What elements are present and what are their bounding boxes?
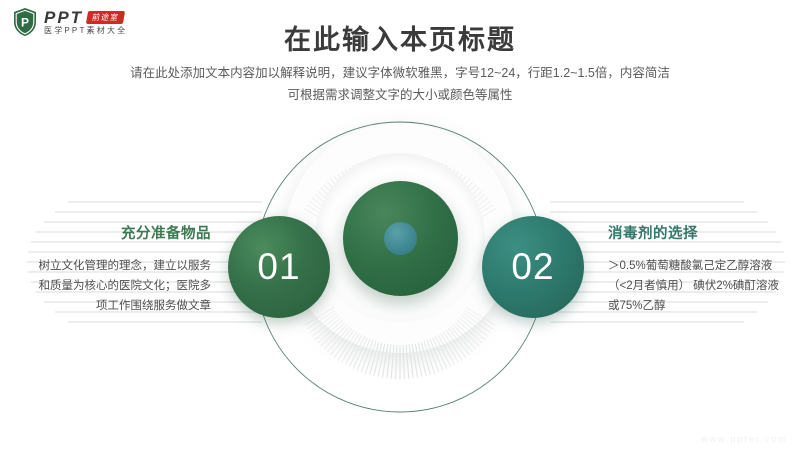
page-title: 在此输入本页标题 [0, 18, 800, 57]
right-content-block: 消毒剂的选择 ＞0.5%葡萄糖酸氯己定乙醇溶液（<2月者慎用） 碘伏2%碘酊溶液… [608, 222, 788, 316]
right-body-text: ＞0.5%葡萄糖酸氯己定乙醇溶液（<2月者慎用） 碘伏2%碘酊溶液或75%乙醇 [608, 257, 788, 316]
left-body-text: 树立文化管理的理念，建立以服务和质量为核心的医院文化；医院多项工作围绕服务做文章 [36, 257, 211, 316]
site-watermark: www.ppter.com [701, 434, 788, 444]
node-01-label: 01 [257, 246, 300, 288]
center-dot [384, 222, 417, 255]
diagram-node-01[interactable]: 01 [228, 216, 330, 318]
diagram-node-02[interactable]: 02 [482, 216, 584, 318]
right-heading: 消毒剂的选择 [608, 222, 788, 243]
subtitle-line-1: 请在此处添加文本内容加以解释说明，建议字体微软雅黑，字号12~24，行距1.2~… [0, 63, 800, 85]
node-02-label: 02 [511, 246, 554, 288]
subtitle-line-2: 可根据需求调整文字的大小或颜色等属性 [0, 85, 800, 107]
page-subtitle: 请在此处添加文本内容加以解释说明，建议字体微软雅黑，字号12~24，行距1.2~… [0, 63, 800, 107]
left-content-block: 充分准备物品 树立文化管理的理念，建立以服务和质量为核心的医院文化；医院多项工作… [36, 222, 211, 316]
slide-canvas: P PPT 前途室 医学PPT素材大全 在此输入本页标题 请在此处添加文本内容加… [0, 0, 800, 450]
left-heading: 充分准备物品 [36, 222, 211, 243]
